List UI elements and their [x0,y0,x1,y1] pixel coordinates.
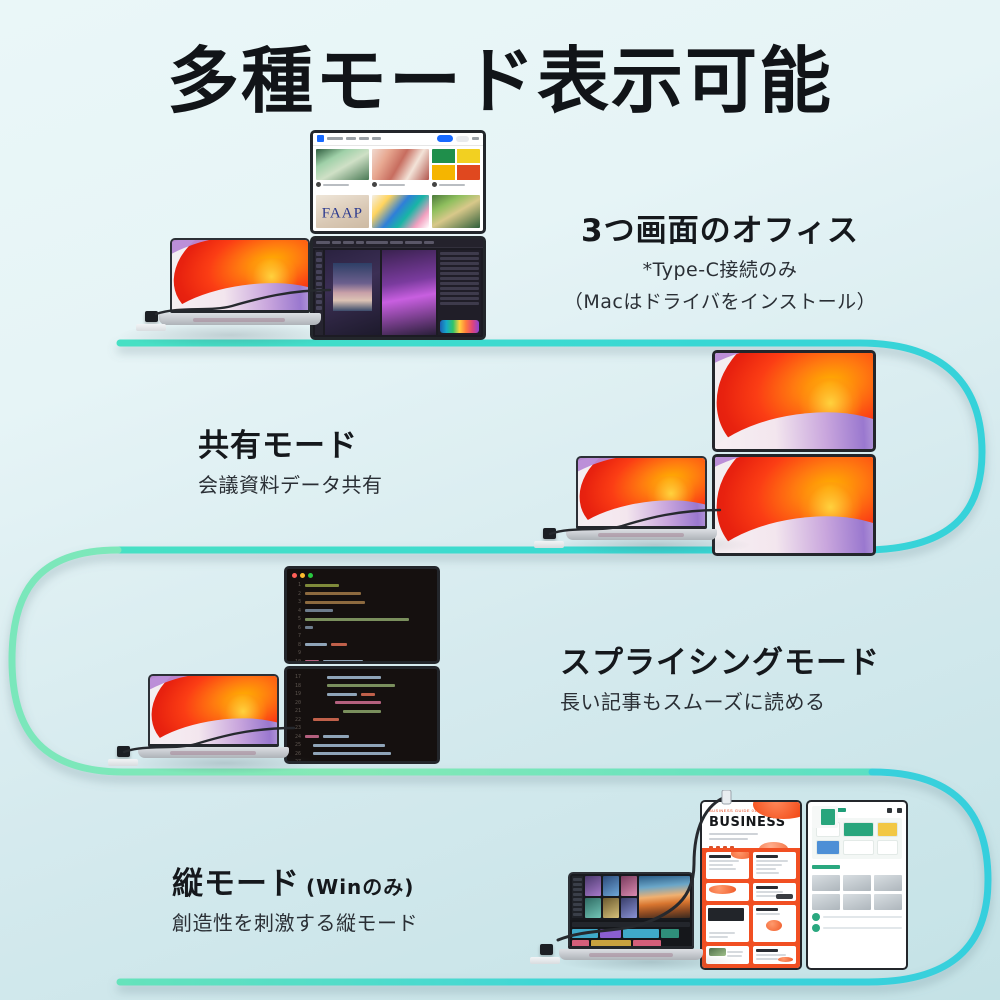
minimize-icon [300,573,305,578]
cable-3 [112,712,302,760]
app-menubar[interactable] [313,239,483,248]
cable-4 [528,790,748,955]
wall-outlet-3 [108,759,138,766]
secondary-button[interactable] [456,136,469,142]
section-office-sub2: （Macはドライバをインストール） [530,287,910,314]
section-header [812,863,902,871]
menu-item[interactable] [346,137,356,140]
section-splicing-sub1: 長い記事もスムーズに読める [560,686,880,715]
gallery-brand-caption: FAAP [322,205,363,222]
section-office-heading: 3つ画面のオフィス [530,205,910,250]
share-screen-lower [715,457,873,553]
cable-1 [140,276,340,326]
deck-slide[interactable] [753,852,796,878]
profile-icon[interactable] [472,137,479,140]
menu-item[interactable] [372,137,381,140]
section-vertical-heading: 縦モード(Winのみ) [172,858,418,903]
gallery-meta [316,180,369,189]
browser-toolbar[interactable] [313,133,483,146]
monitor-code-lower: 17 18 19 20 21 22 23 24 25 26 27 28 29 3… [284,666,440,764]
menu-item[interactable] [359,137,369,140]
monitor-share-upper [712,350,876,452]
list-item[interactable] [812,924,902,932]
infographic-stage: 多種モード表示可能 [0,0,1000,1000]
gallery-thumb[interactable] [316,149,369,180]
thumbnail-row[interactable] [812,875,902,891]
gallery-thumb-quad[interactable] [432,149,480,180]
wall-outlet-4 [530,957,560,964]
gallery-thumb[interactable]: FAAP [316,195,369,228]
section-vertical-heading-main: 縦モード [172,866,300,902]
properties-panel[interactable] [438,250,481,335]
list-item[interactable] [812,913,902,921]
section-share-heading: 共有モード [198,420,383,465]
gallery-thumb[interactable] [372,195,429,228]
window-traffic-lights[interactable] [292,573,432,578]
monitor-top-gallery: FAAP [310,130,486,234]
gallery-screen: FAAP [313,133,483,231]
menu-item[interactable] [327,137,343,140]
menu-icon[interactable] [897,808,902,813]
code-editor-continued[interactable]: 17 18 19 20 21 22 23 24 25 26 27 28 29 3… [287,669,437,761]
gallery-grid: FAAP [313,146,483,231]
section-splicing-heading: スプライシングモード [560,637,880,682]
wall-outlet-2 [534,541,564,548]
code-editor[interactable]: 1 2 3 4 5 6 7 8 9 10 11 12 13 14 [287,569,437,661]
section-share-sub1: 会議資料データ共有 [198,469,383,498]
color-wheel[interactable] [440,320,479,333]
deck-slide[interactable] [753,905,796,942]
cart-icon[interactable] [887,808,892,813]
content-section [812,875,902,964]
deck-slide[interactable] [753,946,796,964]
code-screen-lower: 17 18 19 20 21 22 23 24 25 26 27 28 29 3… [287,669,437,761]
viewport-right[interactable] [382,250,436,335]
behance-logo-icon [317,135,324,142]
monitor-code-upper: 1 2 3 4 5 6 7 8 9 10 11 12 13 14 [284,566,440,664]
thumbnail-row[interactable] [812,894,902,910]
portrait-monitor-web [806,800,908,970]
gallery-meta [372,180,429,189]
maximize-icon [308,573,313,578]
cta-button[interactable] [821,809,835,825]
footer-cards [812,806,838,828]
section-office-sub1: *Type-C接続のみ [530,255,910,282]
cable-2 [538,494,728,542]
gallery-thumb[interactable] [432,195,480,228]
gallery-thumb[interactable] [372,149,429,180]
web-dashboard-screen [808,802,906,968]
section-vertical-heading-note: (Winのみ) [306,875,414,899]
section-vertical-sub1: 創造性を刺激する縦モード [172,907,418,936]
section-splicing-text: スプライシングモード 長い記事もスムーズに読める [560,637,880,715]
section-share-text: 共有モード 会議資料データ共有 [198,420,383,498]
share-screen-upper [715,353,873,449]
gallery-meta [432,180,480,189]
primary-action-button[interactable] [437,135,453,142]
section-office-text: 3つ画面のオフィス *Type-C接続のみ （Macはドライバをインストール） [530,205,910,314]
close-icon [292,573,297,578]
page-title: 多種モード表示可能 [0,22,1000,127]
deck-slide[interactable] [753,883,796,901]
code-screen-upper: 1 2 3 4 5 6 7 8 9 10 11 12 13 14 [287,569,437,661]
section-vertical-text: 縦モード(Winのみ) 創造性を刺激する縦モード [172,858,418,936]
